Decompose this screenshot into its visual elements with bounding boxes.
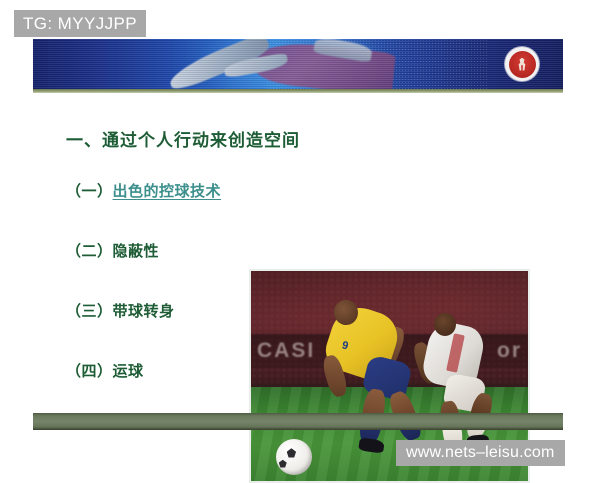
board-text-left: CASI — [257, 339, 315, 363]
footer-bar — [33, 413, 563, 430]
bullet-list: （一）出色的控球技术 （二）隐蔽性 （三）带球转身 （四）运球 — [66, 180, 246, 420]
top-watermark: TG: MYYJJPP — [14, 10, 146, 37]
list-item-1-number: （一） — [66, 182, 113, 200]
list-item-3-label: 带球转身 — [113, 302, 175, 320]
list-item-1-link[interactable]: 出色的控球技术 — [113, 182, 222, 200]
list-item-4: （四）运球 — [66, 360, 246, 381]
university-crest-emblem — [505, 47, 539, 81]
player-two-head — [434, 313, 456, 336]
slide-content: 一、通过个人行动来创造空间 （一）出色的控球技术 （二）隐蔽性 （三）带球转身 … — [0, 100, 600, 400]
list-item-3-number: （三） — [66, 302, 113, 320]
board-text-right: or — [497, 339, 522, 363]
list-item-1: （一）出色的控球技术 — [66, 180, 246, 201]
list-item-2-number: （二） — [66, 242, 113, 260]
list-item-2-label: 隐蔽性 — [113, 242, 160, 260]
list-item-2: （二）隐蔽性 — [66, 240, 246, 261]
emblem-glyph-icon — [517, 58, 528, 71]
page-title: 一、通过个人行动来创造空间 — [66, 126, 300, 151]
list-item-4-label: 运球 — [113, 362, 144, 380]
list-item-3: （三）带球转身 — [66, 300, 246, 321]
slide-canvas: TG: MYYJJPP 一、通过个人行动来创造空间 （一）出色的控球技术 （二）… — [0, 0, 600, 480]
header-banner — [33, 39, 563, 89]
list-item-4-number: （四） — [66, 362, 113, 380]
bottom-watermark: www.nets–leisu.com — [396, 440, 565, 466]
header-divider-rule — [33, 89, 563, 93]
emblem-inner-disc — [509, 51, 536, 78]
soccer-ball-icon — [276, 439, 312, 475]
